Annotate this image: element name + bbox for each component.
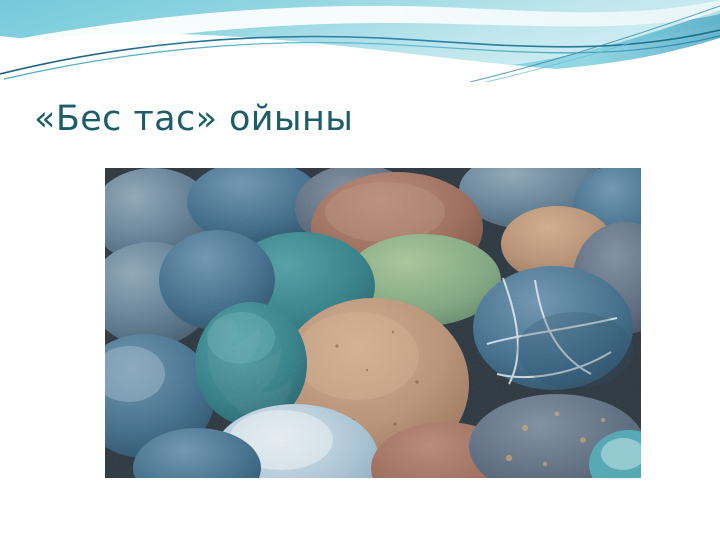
slide: «Бес тас» ойыны bbox=[0, 0, 720, 540]
photo-grain-overlay bbox=[105, 168, 641, 478]
slide-title: «Бес тас» ойыны bbox=[34, 98, 353, 140]
pebbles-with-autumn-leaf-photo bbox=[105, 168, 641, 478]
pebbles-photo-frame bbox=[105, 168, 641, 478]
decorative-wave-banner bbox=[0, 0, 720, 82]
